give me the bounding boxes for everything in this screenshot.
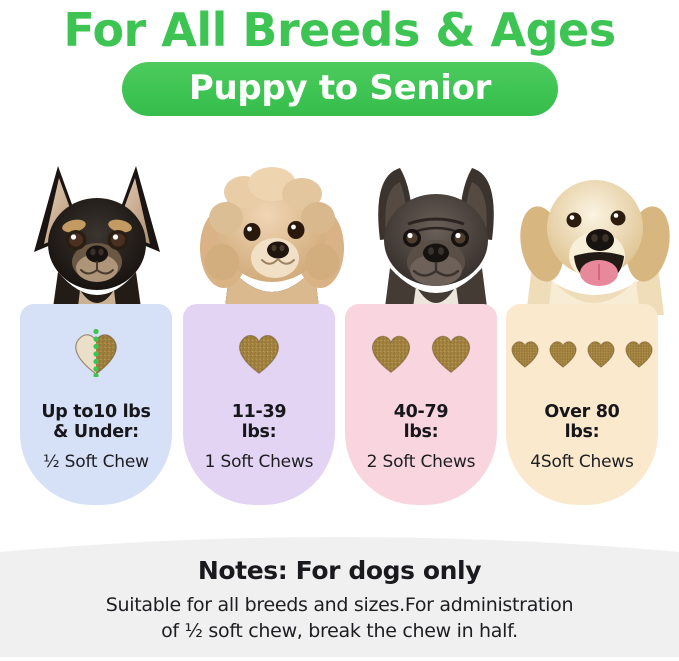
card-dose: ½ Soft Chew: [20, 452, 172, 472]
badge-label: Puppy to Senior: [189, 71, 491, 105]
card-title-line2: lbs:: [404, 422, 439, 442]
dog-photo-chihuahua: [18, 140, 178, 315]
dosage-card-up-to-10-lbs[interactable]: Up to10 lbs & Under: ½ Soft Chew: [20, 304, 172, 505]
card-title-line2: lbs:: [565, 422, 600, 442]
chew-group: [183, 328, 335, 378]
soft-chew-icon: [546, 338, 580, 369]
card-title: Over 80 lbs:: [506, 402, 658, 442]
infographic-root: For All Breeds & Ages Puppy to Senior: [0, 0, 679, 657]
card-dose: 4Soft Chews: [506, 452, 658, 472]
half-soft-chew-icon: [70, 329, 122, 377]
card-title-line1: Over 80: [544, 402, 619, 422]
chew-group: [506, 328, 658, 378]
soft-chew-icon: [584, 338, 618, 369]
card-title-line1: 11-39: [232, 402, 286, 422]
chew-group: [20, 328, 172, 378]
dog-photo-french-bulldog: [356, 140, 516, 315]
dog-photo-golden-retriever: [512, 140, 677, 315]
dog-photo-row: [0, 140, 679, 315]
soft-chew-icon: [622, 338, 656, 369]
card-title-line1: 40-79: [394, 402, 448, 422]
notes-body: Suitable for all breeds and sizes.For ad…: [0, 592, 679, 644]
notes-title: Notes: For dogs only: [0, 556, 679, 586]
card-title-line2: lbs:: [242, 422, 277, 442]
card-title: 40-79 lbs:: [345, 402, 497, 442]
page-title: For All Breeds & Ages: [0, 2, 679, 58]
dog-photo-poodle: [192, 140, 352, 315]
chew-group: [345, 328, 497, 378]
dosage-card-40-79-lbs[interactable]: 40-79 lbs: 2 Soft Chews: [345, 304, 497, 505]
soft-chew-icon: [508, 338, 542, 369]
badge-puppy-to-senior: Puppy to Senior: [122, 62, 558, 116]
card-dose: 2 Soft Chews: [345, 452, 497, 472]
card-dose: 1 Soft Chews: [183, 452, 335, 472]
notes-body-line1: Suitable for all breeds and sizes.For ad…: [106, 594, 573, 616]
soft-chew-icon: [427, 331, 475, 375]
card-title: 11-39 lbs:: [183, 402, 335, 442]
soft-chew-icon: [234, 330, 284, 376]
card-title-line1: Up to10 lbs: [41, 402, 150, 422]
card-title: Up to10 lbs & Under:: [20, 402, 172, 442]
soft-chew-icon: [367, 331, 415, 375]
dosage-card-11-39-lbs[interactable]: 11-39 lbs: 1 Soft Chews: [183, 304, 335, 505]
dosage-card-over-80-lbs[interactable]: Over 80 lbs: 4Soft Chews: [506, 304, 658, 505]
card-title-line2: & Under:: [53, 422, 139, 442]
dosage-card-row: Up to10 lbs & Under: ½ Soft Chew: [0, 304, 679, 509]
notes-body-line2: of ½ soft chew, break the chew in half.: [161, 620, 518, 642]
